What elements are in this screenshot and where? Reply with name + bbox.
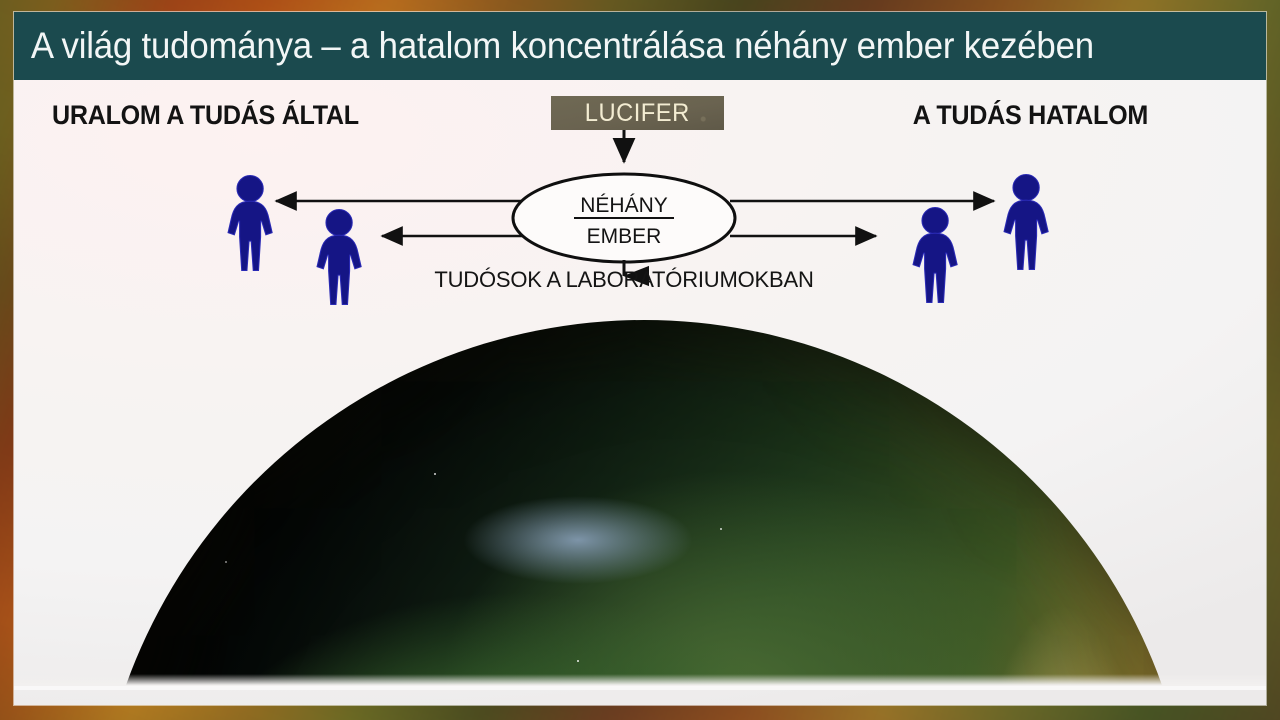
slide-title: A világ tudománya – a hatalom koncentrál… bbox=[14, 25, 1094, 67]
center-node-line2: EMBER bbox=[587, 225, 662, 248]
person-right-outer bbox=[1004, 174, 1048, 269]
content-panel: A világ tudománya – a hatalom koncentrál… bbox=[14, 12, 1266, 705]
earth-globe-image bbox=[94, 320, 1194, 690]
title-bar: A világ tudománya – a hatalom koncentrál… bbox=[14, 12, 1266, 80]
globe-container bbox=[14, 320, 1266, 690]
person-left-inner bbox=[317, 209, 361, 304]
globe-baseline bbox=[14, 686, 1266, 690]
lucifer-label: LUCIFER bbox=[585, 99, 690, 128]
scientists-label: TUDÓSOK A LABORATÓRIUMOKBAN bbox=[434, 267, 813, 292]
person-right-inner bbox=[913, 207, 957, 302]
center-node-line1: NÉHÁNY bbox=[580, 194, 668, 217]
slide-root: A világ tudománya – a hatalom koncentrál… bbox=[0, 0, 1280, 720]
person-left-outer bbox=[228, 175, 272, 270]
